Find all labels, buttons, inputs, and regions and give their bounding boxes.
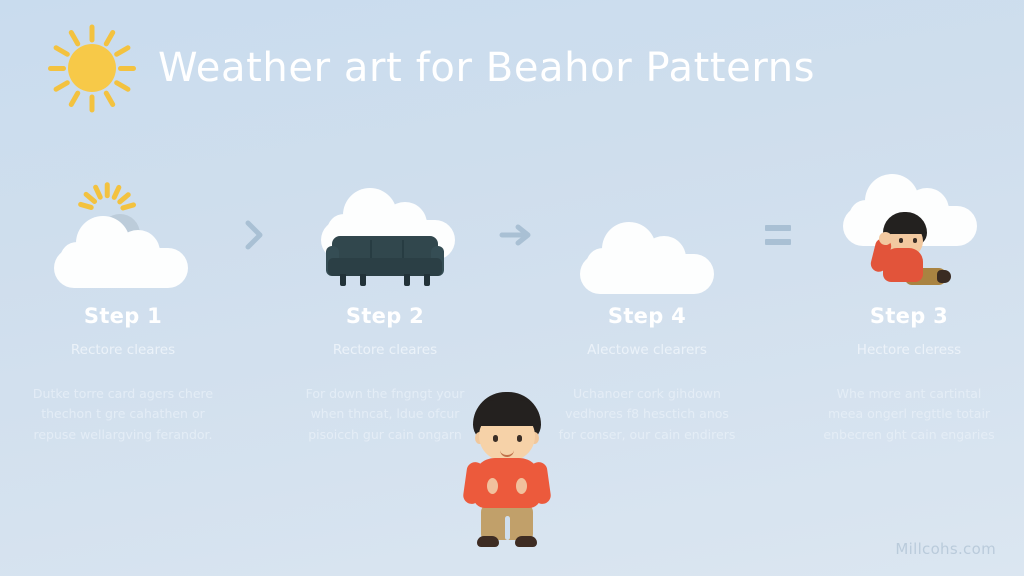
step-subtitle: Hectore cleress xyxy=(800,342,1018,358)
cloud-shape xyxy=(54,226,188,288)
page-title: Weather art for Beahor Patterns xyxy=(158,45,815,91)
sitting-child-illustration xyxy=(865,212,949,290)
step-body-text: Dutke torre card agers chere thechon t g… xyxy=(14,384,232,445)
step-body-text: Uchanoer cork gihdown vedhores f8 hescti… xyxy=(538,384,756,445)
connector-chevron-right-icon xyxy=(232,176,276,294)
step-title: Step 2 xyxy=(276,304,494,328)
cloud-icon xyxy=(538,176,756,294)
step-subtitle: Rectore cleares xyxy=(276,342,494,358)
step-subtitle: Rectore cleares xyxy=(14,342,232,358)
step-title: Step 3 xyxy=(800,304,1018,328)
cloud-shape xyxy=(580,232,714,294)
step-card-4[interactable]: Step 4 Alectowe clearers Uchanoer cork g… xyxy=(538,176,756,445)
sun-icon xyxy=(46,22,138,114)
page-header: Weather art for Beahor Patterns xyxy=(0,18,1024,118)
watermark: Millcohs.com xyxy=(895,540,996,558)
step-card-1[interactable]: Step 1 Rectore cleares Dutke torre card … xyxy=(14,176,232,445)
standing-child-illustration xyxy=(455,392,559,550)
child-sitting-with-cloud-icon xyxy=(800,176,1018,294)
step-title: Step 1 xyxy=(14,304,232,328)
step-body-text: Whe more ant cartintal meea ongerl regtt… xyxy=(800,384,1018,445)
step-card-3[interactable]: Step 3 Hectore cleress Whe more ant cart… xyxy=(800,176,1018,445)
connector-equals-icon xyxy=(756,176,800,294)
sofa-icon xyxy=(326,236,444,286)
poster-canvas: Weather art for Beahor Patterns xyxy=(0,0,1024,576)
connector-arrow-right-icon xyxy=(494,176,538,294)
step-subtitle: Alectowe clearers xyxy=(538,342,756,358)
step-title: Step 4 xyxy=(538,304,756,328)
sun-behind-cloud-icon xyxy=(14,176,232,294)
sofa-with-cloud-icon xyxy=(276,176,494,294)
sun-disc xyxy=(68,44,116,92)
